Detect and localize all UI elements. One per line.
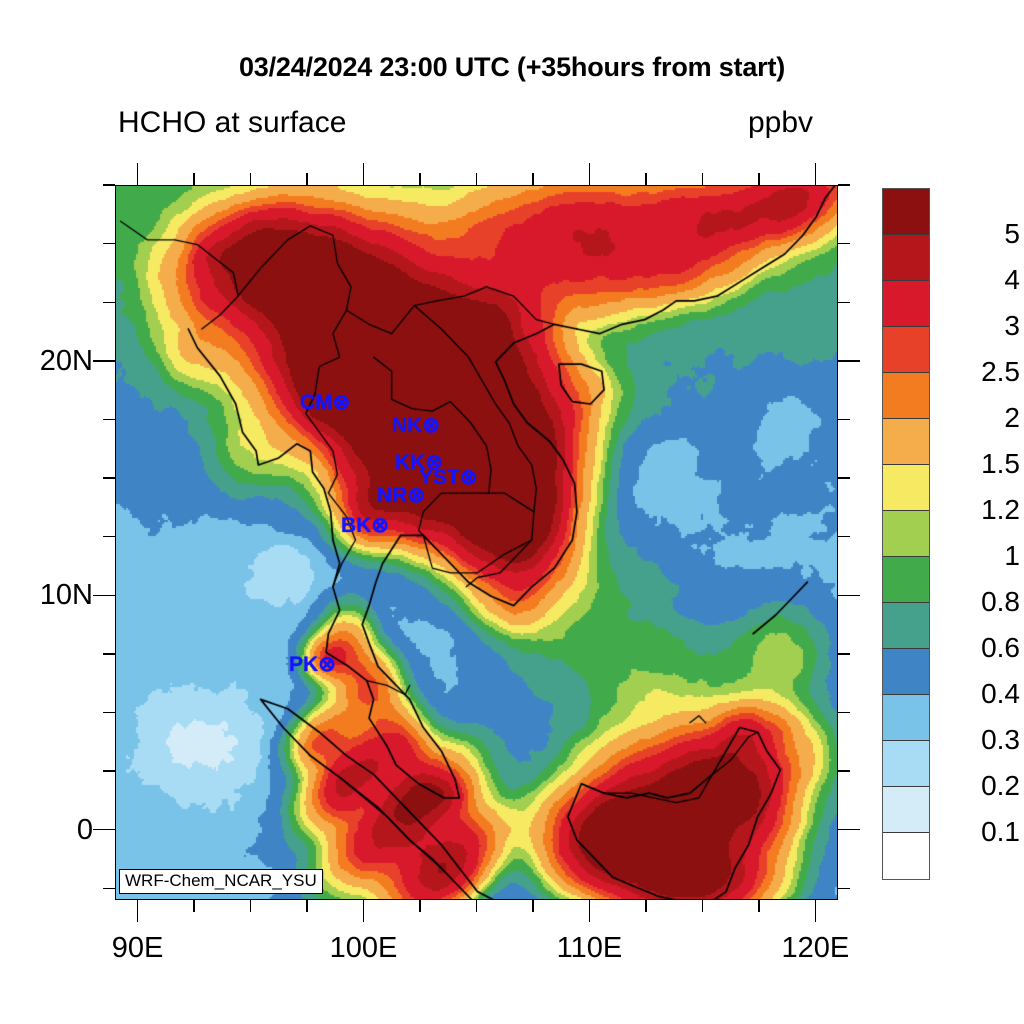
- station-label: NR: [377, 484, 407, 507]
- station-symbol-icon: ⊗: [407, 484, 425, 507]
- x-tick: [250, 900, 251, 912]
- station-label: CM: [300, 391, 333, 414]
- x-tick: [363, 900, 364, 922]
- y-tick: [103, 302, 115, 303]
- model-tag: WRF-Chem_NCAR_YSU: [119, 869, 323, 894]
- y-tick: [838, 302, 850, 303]
- y-tick: [838, 360, 860, 361]
- y-tick: [838, 243, 850, 244]
- y-tick: [103, 770, 115, 771]
- colorbar-tick-label: 0.8: [934, 588, 1020, 616]
- y-axis-tick-label: 10N: [0, 579, 93, 612]
- x-tick: [250, 173, 251, 185]
- y-tick: [838, 653, 850, 654]
- x-tick: [532, 173, 533, 185]
- y-axis-tick-label: 0: [0, 814, 93, 847]
- colorbar-band: [883, 465, 929, 511]
- map-plot-area: [115, 185, 838, 900]
- x-tick: [306, 900, 307, 912]
- y-axis-tick-label: 20N: [0, 345, 93, 378]
- x-tick: [815, 163, 816, 185]
- station-symbol-icon: ⊗: [371, 514, 389, 537]
- colorbar-tick-label: 0.4: [934, 680, 1020, 708]
- x-tick: [702, 900, 703, 912]
- colorbar-band: [883, 833, 929, 879]
- station-symbol-icon: ⊗: [460, 466, 478, 489]
- colorbar-band: [883, 603, 929, 649]
- colorbar: [882, 188, 930, 880]
- colorbar-band: [883, 327, 929, 373]
- colorbar-band: [883, 787, 929, 833]
- colorbar-tick-label: 1.2: [934, 496, 1020, 524]
- station-label: BK: [341, 514, 371, 537]
- y-tick: [103, 243, 115, 244]
- x-tick: [758, 900, 759, 912]
- x-tick: [193, 900, 194, 912]
- y-tick: [838, 477, 850, 478]
- y-tick: [103, 712, 115, 713]
- colorbar-band: [883, 373, 929, 419]
- x-axis-tick-label: 120E: [750, 932, 880, 965]
- x-tick: [645, 173, 646, 185]
- y-tick: [103, 536, 115, 537]
- x-tick: [702, 173, 703, 185]
- colorbar-band: [883, 741, 929, 787]
- x-tick: [645, 900, 646, 912]
- x-tick: [589, 900, 590, 922]
- x-axis-tick-label: 110E: [524, 932, 654, 965]
- field-label: HCHO at surface: [118, 106, 346, 140]
- y-tick: [93, 595, 115, 596]
- x-axis-tick-label: 90E: [73, 932, 203, 965]
- colorbar-tick-label: 2: [934, 404, 1020, 432]
- y-tick: [838, 829, 860, 830]
- x-tick: [815, 900, 816, 922]
- station-marker-pk: PK⊗: [289, 654, 336, 675]
- station-marker-nk: NK⊗: [392, 415, 440, 436]
- station-marker-yst: YST⊗: [419, 467, 477, 488]
- units-label: ppbv: [748, 106, 813, 140]
- x-tick: [419, 900, 420, 912]
- x-tick: [476, 173, 477, 185]
- y-tick: [838, 595, 860, 596]
- colorbar-tick-label: 2.5: [934, 358, 1020, 386]
- x-tick: [419, 173, 420, 185]
- station-symbol-icon: ⊗: [422, 414, 440, 437]
- x-tick: [137, 900, 138, 922]
- y-tick: [103, 419, 115, 420]
- y-tick: [103, 477, 115, 478]
- y-tick: [838, 419, 850, 420]
- colorbar-tick-label: 3: [934, 312, 1020, 340]
- colorbar-band: [883, 419, 929, 465]
- station-marker-cm: CM⊗: [300, 392, 350, 413]
- colorbar-band: [883, 235, 929, 281]
- x-tick: [532, 900, 533, 912]
- y-tick: [838, 184, 850, 185]
- x-tick: [476, 900, 477, 912]
- x-tick: [306, 173, 307, 185]
- station-marker-nr: NR⊗: [377, 485, 425, 506]
- colorbar-tick-label: 0.3: [934, 726, 1020, 754]
- page-title: 03/24/2024 23:00 UTC (+35hours from star…: [0, 52, 1024, 83]
- x-tick: [363, 163, 364, 185]
- station-label: NK: [392, 414, 422, 437]
- y-tick: [838, 888, 850, 889]
- station-symbol-icon: ⊗: [318, 653, 336, 676]
- colorbar-tick-label: 0.1: [934, 818, 1020, 846]
- colorbar-band: [883, 557, 929, 603]
- colorbar-tick-label: 4: [934, 266, 1020, 294]
- y-tick: [103, 888, 115, 889]
- y-tick: [838, 536, 850, 537]
- colorbar-band: [883, 189, 929, 235]
- colorbar-tick-label: 0.2: [934, 772, 1020, 800]
- colorbar-tick-label: 0.6: [934, 634, 1020, 662]
- station-symbol-icon: ⊗: [333, 391, 351, 414]
- x-axis-tick-label: 100E: [299, 932, 429, 965]
- station-label: YST: [419, 466, 460, 489]
- colorbar-tick-label: 1: [934, 542, 1020, 570]
- x-tick: [589, 163, 590, 185]
- x-tick: [758, 173, 759, 185]
- station-marker-bk: BK⊗: [341, 515, 389, 536]
- y-tick: [103, 653, 115, 654]
- colorbar-band: [883, 649, 929, 695]
- y-tick: [93, 829, 115, 830]
- y-tick: [838, 770, 850, 771]
- colorbar-tick-label: 1.5: [934, 450, 1020, 478]
- colorbar-band: [883, 281, 929, 327]
- station-label: PK: [289, 653, 318, 676]
- hcho-contour-field: [116, 186, 838, 900]
- colorbar-band: [883, 511, 929, 557]
- y-tick: [93, 360, 115, 361]
- x-tick: [193, 173, 194, 185]
- figure-canvas: 03/24/2024 23:00 UTC (+35hours from star…: [0, 0, 1024, 1024]
- colorbar-tick-label: 5: [934, 220, 1020, 248]
- x-tick: [137, 163, 138, 185]
- y-tick: [838, 712, 850, 713]
- colorbar-band: [883, 695, 929, 741]
- y-tick: [103, 184, 115, 185]
